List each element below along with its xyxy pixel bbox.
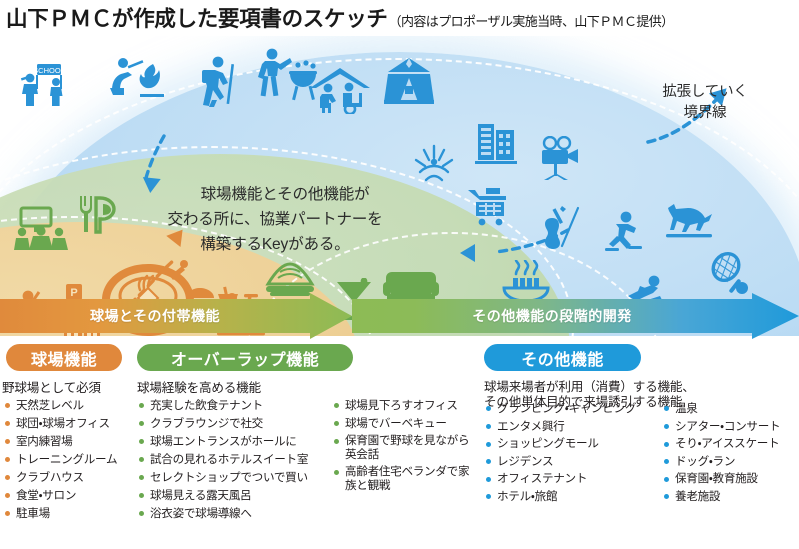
- list-item-label: ホテル・旅館: [497, 490, 557, 503]
- list-item-label: 球場見える露天風呂: [150, 489, 251, 502]
- list-item-label: 球団・球場オフィス: [16, 417, 110, 430]
- list-item: 高齢者住宅ベランダで家族と観戦: [334, 465, 480, 492]
- school-icon: SCHOOL: [20, 62, 72, 108]
- bullet-dot: [5, 511, 10, 516]
- center-callout-text: 球場機能とその他機能が 交わる所に、協業パートナーを 構築するKeyがある。: [150, 182, 400, 257]
- list-item: ショッピングモール: [486, 437, 658, 450]
- list-overlap-col1: 充実した飲食テナントクラブラウンジで社交球場エントランスがホールに試合の見れるホ…: [139, 399, 335, 525]
- bullet-dot: [334, 470, 339, 475]
- bullet-dot: [5, 475, 10, 480]
- list-item-label: 球場エントランスがホールに: [150, 435, 297, 448]
- list-item: オフィステナント: [486, 472, 658, 485]
- bullet-dot: [5, 457, 10, 462]
- page-title: 山下ＰＭＣが作成した要項書のスケッチ （内容はプロポーザル実施当時、山下ＰＭＣ提…: [6, 2, 796, 34]
- list-item: 食堂・サロン: [5, 489, 137, 502]
- heading-stadium: 野球場として必須: [2, 381, 101, 396]
- concept-illustration: SCHOOL: [0, 36, 799, 336]
- phase-arrow-bands: 球場とその付帯機能 その他機能の段階的開発: [0, 293, 799, 339]
- shopping-cart-icon: [466, 186, 508, 226]
- bullet-dot: [486, 442, 491, 447]
- overlap-list-2: 球場見下ろすオフィス球場でバーベキュー保育園で野球を見ながら英会話高齢者住宅ベラ…: [334, 399, 480, 492]
- list-item: シアター・コンサート: [664, 420, 798, 433]
- list-other-col1: グランピング・キャンピングエンタメ興行ショッピングモールレジデンスオフィステナン…: [486, 402, 658, 508]
- list-item-label: 充実した飲食テナント: [150, 399, 263, 412]
- list-item: 球場見える露天風呂: [139, 489, 335, 502]
- list-item: セレクトショップでついで買い: [139, 471, 335, 484]
- list-item-label: 食堂・サロン: [16, 489, 76, 502]
- callout-line-3: 構築するKeyがある。: [150, 232, 400, 257]
- bullet-dot: [334, 421, 339, 426]
- bullet-dot: [486, 424, 491, 429]
- list-item: クラブラウンジで社交: [139, 417, 335, 430]
- list-item: そり・アイススケート: [664, 437, 798, 450]
- list-item-label: オフィステナント: [497, 472, 587, 485]
- list-item: 充実した飲食テナント: [139, 399, 335, 412]
- tennis-icon: [706, 252, 752, 298]
- callout-line-2: 交わる所に、協業パートナーを: [150, 207, 400, 232]
- bullet-dot: [139, 439, 144, 444]
- bullet-dot: [486, 459, 491, 464]
- fireworks-icon: [412, 142, 456, 184]
- bullet-dot: [139, 421, 144, 426]
- list-item: 養老施設: [664, 490, 798, 503]
- list-item-label: 保育園で野球を見ながら英会話: [345, 434, 469, 460]
- campfire-icon: [106, 54, 170, 102]
- care-house-icon: [308, 66, 372, 114]
- list-item: クラブハウス: [5, 471, 137, 484]
- bullet-dot: [139, 475, 144, 480]
- list-item: 球団・球場オフィス: [5, 417, 137, 430]
- pill-stadium-functions: 球場機能: [6, 344, 122, 371]
- list-item: 球場見下ろすオフィス: [334, 399, 480, 412]
- restaurant-icon: [76, 194, 124, 234]
- list-item-label: レジデンス: [497, 455, 553, 468]
- tent-icon: [382, 56, 436, 106]
- hiking-icon: [196, 54, 240, 108]
- bullet-dot: [139, 403, 144, 408]
- bullet-dot: [664, 442, 669, 447]
- list-item: 天然芝レベル: [5, 399, 137, 412]
- list-item: グランピング・キャンピング: [486, 402, 658, 415]
- list-item: エンタメ興行: [486, 420, 658, 433]
- list-item-label: 浴衣姿で球場導線へ: [150, 507, 252, 520]
- list-item-label: ショッピングモール: [497, 437, 599, 450]
- bullet-dot: [334, 439, 339, 444]
- list-item-label: クラブハウス: [16, 471, 84, 484]
- bullet-dot: [5, 493, 10, 498]
- list-item-label: シアター・コンサート: [675, 420, 780, 433]
- bullet-dot: [664, 424, 669, 429]
- bullet-dot: [486, 477, 491, 482]
- list-item: トレーニングルーム: [5, 453, 137, 466]
- callout-line-1: 球場機能とその他機能が: [150, 182, 400, 207]
- office-building-icon: [474, 120, 518, 166]
- bullet-dot: [664, 406, 669, 411]
- list-item-label: トレーニングルーム: [16, 453, 117, 466]
- bullet-dot: [5, 421, 10, 426]
- pill-overlap-functions: オーバーラップ機能: [137, 344, 353, 371]
- list-overlap-col2: 球場見下ろすオフィス球場でバーベキュー保育園で野球を見ながら英会話高齢者住宅ベラ…: [334, 399, 480, 496]
- bullet-dot: [486, 406, 491, 411]
- list-item-label: クラブラウンジで社交: [150, 417, 263, 430]
- list-item: 球場エントランスがホールに: [139, 435, 335, 448]
- list-item-label: 天然芝レベル: [16, 399, 84, 412]
- legend-panel: 球場機能 オーバーラップ機能 その他機能 野球場として必須 球場経験を高める機能…: [0, 340, 799, 549]
- list-item-label: 保育園・教育施設: [675, 472, 758, 485]
- list-item-label: 駐車場: [16, 507, 50, 520]
- list-item-label: ドッグ・ラン: [675, 455, 735, 468]
- list-item-label: 試合の見れるホテルスイート室: [150, 453, 308, 466]
- other-list-1: グランピング・キャンピングエンタメ興行ショッピングモールレジデンスオフィステナン…: [486, 402, 658, 503]
- band-stadium-functions: 球場とその付帯機能: [0, 293, 352, 339]
- annotation-line-1: 拡張していく: [620, 82, 790, 103]
- list-item: 温泉: [664, 402, 798, 415]
- band-other-label: その他機能の段階的開発: [352, 306, 799, 326]
- list-item: 保育園で野球を見ながら英会話: [334, 434, 480, 461]
- title-main-text: 山下ＰＭＣが作成した要項書のスケッチ: [6, 2, 388, 33]
- bullet-dot: [5, 439, 10, 444]
- bullet-dot: [139, 457, 144, 462]
- list-item-label: 室内練習場: [16, 435, 72, 448]
- list-item-label: そり・アイススケート: [675, 437, 779, 450]
- bullet-dot: [664, 494, 669, 499]
- list-item-label: グランピング・キャンピング: [497, 402, 636, 415]
- bullet-dot: [664, 459, 669, 464]
- list-item-label: 温泉: [675, 402, 698, 415]
- bullet-dot: [139, 493, 144, 498]
- pill-other-functions: その他機能: [484, 344, 641, 371]
- list-item-label: エンタメ興行: [497, 420, 564, 433]
- list-item-label: セレクトショップでついで買い: [150, 471, 308, 484]
- list-stadium-col1: 天然芝レベル球団・球場オフィス室内練習場トレーニングルームクラブハウス食堂・サロ…: [5, 399, 137, 525]
- overlap-list-1: 充実した飲食テナントクラブラウンジで社交球場エントランスがホールに試合の見れるホ…: [139, 399, 335, 520]
- other-list-2: 温泉シアター・コンサートそり・アイススケートドッグ・ラン保育園・教育施設養老施設: [664, 402, 798, 503]
- annotation-line-2: 境界線: [620, 103, 790, 124]
- blue-arrowhead-mid: [460, 244, 475, 262]
- expanding-boundary-annotation: 拡張していく 境界線: [620, 82, 790, 124]
- svg-text:SCHOOL: SCHOOL: [33, 66, 65, 75]
- stadium-list: 天然芝レベル球団・球場オフィス室内練習場トレーニングルームクラブハウス食堂・サロ…: [5, 399, 137, 520]
- list-item: 球場でバーベキュー: [334, 417, 480, 430]
- title-sub-text: （内容はプロポーザル実施当時、山下ＰＭＣ提供）: [389, 11, 674, 30]
- bullet-dot: [5, 403, 10, 408]
- list-item-label: 球場見下ろすオフィス: [345, 399, 458, 412]
- list-item: ホテル・旅館: [486, 490, 658, 503]
- list-item: ドッグ・ラン: [664, 455, 798, 468]
- list-item: 室内練習場: [5, 435, 137, 448]
- bullet-dot: [139, 511, 144, 516]
- heading-overlap: 球場経験を高める機能: [137, 381, 261, 396]
- violin-icon: [538, 206, 584, 250]
- heading-other-line-1: 球場来場者が利用（消費）する機能、: [484, 380, 784, 395]
- bullet-dot: [664, 477, 669, 482]
- list-other-col2: 温泉シアター・コンサートそり・アイススケートドッグ・ラン保育園・教育施設養老施設: [664, 402, 798, 508]
- list-item-label: 高齢者住宅ベランダで家族と観戦: [345, 465, 469, 491]
- list-item-label: 球場でバーベキュー: [345, 417, 447, 430]
- ice-skating-icon: [604, 210, 646, 254]
- list-item: 駐車場: [5, 507, 137, 520]
- bullet-dot: [334, 403, 339, 408]
- band-other-functions: その他機能の段階的開発: [352, 293, 799, 339]
- list-item: 浴衣姿で球場導線へ: [139, 507, 335, 520]
- band-stadium-label: 球場とその付帯機能: [0, 306, 352, 326]
- list-item: 保育園・教育施設: [664, 472, 798, 485]
- movie-camera-icon: [536, 136, 582, 180]
- list-item: 試合の見れるホテルスイート室: [139, 453, 335, 466]
- list-item: レジデンス: [486, 455, 658, 468]
- dog-running-icon: [664, 202, 714, 240]
- list-item-label: 養老施設: [675, 490, 720, 503]
- bullet-dot: [486, 494, 491, 499]
- theater-icon: [12, 204, 70, 252]
